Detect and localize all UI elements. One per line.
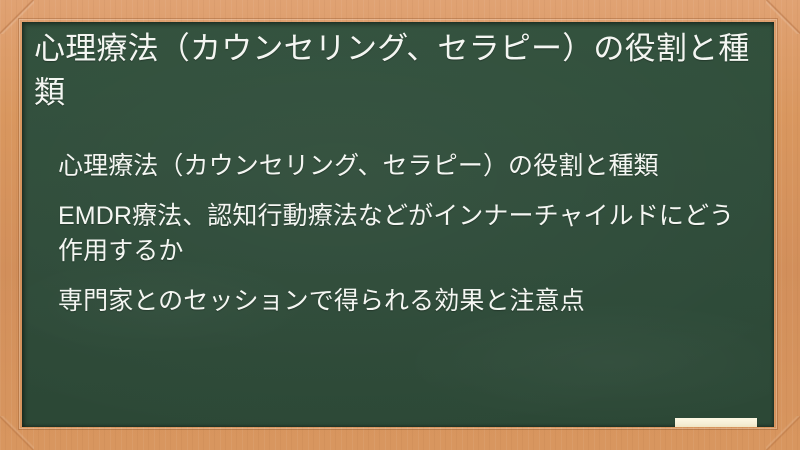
bullet-list: 心理療法（カウンセリング、セラピー）の役割と種類 EMDR療法、認知行動療法など… — [58, 149, 758, 319]
list-item: 専門家とのセッションで得られる効果と注意点 — [58, 284, 758, 320]
chalkboard-surface: 心理療法（カウンセリング、セラピー）の役割と種類 心理療法（カウンセリング、セラ… — [22, 22, 774, 427]
chalkboard-slide: 心理療法（カウンセリング、セラピー）の役割と種類 心理療法（カウンセリング、セラ… — [0, 0, 800, 450]
slide-title: 心理療法（カウンセリング、セラピー）の役割と種類 — [34, 27, 750, 115]
list-item: 心理療法（カウンセリング、セラピー）の役割と種類 — [58, 149, 758, 185]
chalk-eraser-icon — [675, 418, 757, 427]
list-item: EMDR療法、認知行動療法などがインナーチャイルドにどう作用するか — [58, 199, 758, 270]
